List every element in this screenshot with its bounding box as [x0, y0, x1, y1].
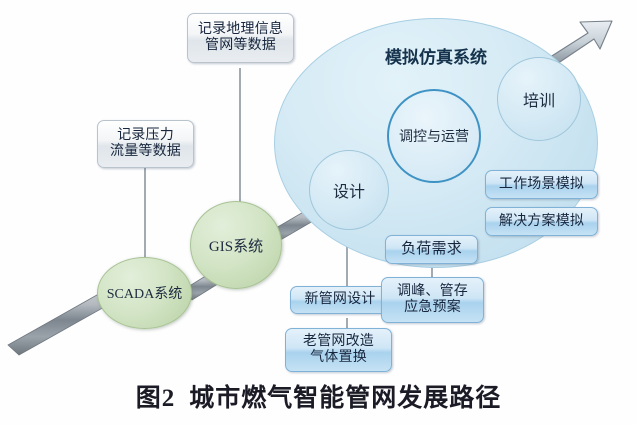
- box-pressure-flow-data-line2: 流量等数据: [110, 144, 181, 160]
- node-training[interactable]: 培训: [497, 57, 581, 141]
- figure-container: 模拟仿真系统 设计 调控与运营 培训 SCADA系统 GIS系统 记录压力 流量…: [0, 0, 637, 425]
- simulation-system-label: 模拟仿真系统: [385, 43, 487, 68]
- box-peak-shaving-storage[interactable]: 调峰、管存 应急预案: [381, 277, 484, 323]
- node-design-label: 设计: [333, 178, 365, 202]
- figure-caption-text: 城市燃气智能管网发展路径: [189, 385, 501, 412]
- box-new-network-design-line1: 新管网设计: [305, 292, 376, 308]
- box-work-scene-simulation[interactable]: 工作场景模拟: [485, 170, 598, 199]
- box-old-network-retrofit-line1: 老管网改造: [303, 334, 374, 350]
- figure-caption: 图2城市燃气智能管网发展路径: [0, 378, 637, 414]
- figure-caption-number: 图2: [136, 385, 176, 412]
- box-peak-shaving-storage-line2: 应急预案: [404, 300, 461, 316]
- box-load-demand-line1: 负荷需求: [401, 241, 462, 258]
- box-geographic-network-data-line2: 管网等数据: [205, 38, 276, 54]
- node-scada-label: SCADA系统: [107, 283, 182, 303]
- node-gis-label: GIS系统: [209, 235, 263, 256]
- box-solution-simulation[interactable]: 解决方案模拟: [485, 207, 598, 236]
- box-solution-simulation-line1: 解决方案模拟: [499, 214, 584, 230]
- box-new-network-design[interactable]: 新管网设计: [290, 286, 390, 314]
- box-geographic-network-data-line1: 记录地理信息: [198, 22, 283, 38]
- box-pressure-flow-data-line1: 记录压力: [117, 128, 174, 144]
- node-scada[interactable]: SCADA系统: [97, 257, 192, 329]
- box-old-network-retrofit[interactable]: 老管网改造 气体置换: [285, 328, 392, 372]
- node-dispatch-operation-label: 调控与运营: [399, 126, 469, 146]
- box-peak-shaving-storage-line1: 调峰、管存: [397, 284, 468, 300]
- node-gis[interactable]: GIS系统: [190, 201, 282, 289]
- box-old-network-retrofit-line2: 气体置换: [310, 350, 367, 366]
- box-geographic-network-data[interactable]: 记录地理信息 管网等数据: [187, 13, 294, 63]
- box-pressure-flow-data[interactable]: 记录压力 流量等数据: [97, 120, 194, 168]
- box-load-demand[interactable]: 负荷需求: [385, 235, 478, 264]
- diagram-canvas: 模拟仿真系统 设计 调控与运营 培训 SCADA系统 GIS系统 记录压力 流量…: [0, 0, 637, 375]
- node-design[interactable]: 设计: [309, 150, 389, 230]
- box-work-scene-simulation-line1: 工作场景模拟: [499, 177, 584, 193]
- node-dispatch-operation[interactable]: 调控与运营: [387, 89, 481, 183]
- node-training-label: 培训: [523, 87, 555, 111]
